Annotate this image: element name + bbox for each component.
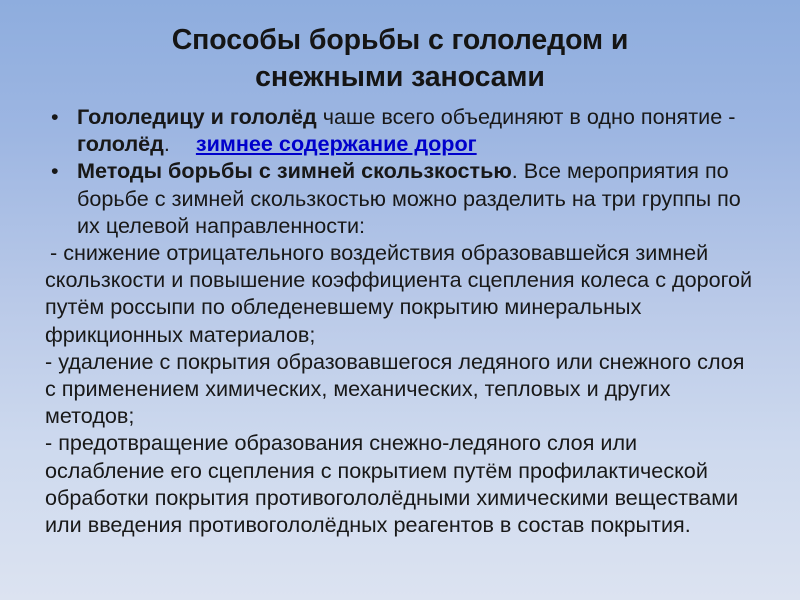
bullet-point-icon: • [51,103,69,130]
presentation-slide: Способы борьбы с гололедом и снежными за… [0,0,800,600]
page-title: Способы борьбы с гололедом и снежными за… [54,22,746,96]
bullet-point-icon: • [51,157,69,184]
dash-paragraph-2: - удаление с покрытия образовавшегося ле… [40,348,756,430]
list-item-label: Гололедицу и гололёд чаше всего объединя… [77,103,756,157]
hyperlink-winter-road-maintenance[interactable]: зимнее содержание дорог [196,131,477,156]
dash-paragraph-3: - предотвращение образования снежно-ледя… [40,429,756,538]
bullet-1-lead-bold: Гололедицу и гололёд [77,104,317,129]
title-block: Способы борьбы с гололедом и снежными за… [54,22,746,96]
bullet-1-middle-text: чаше всего объединяют в одно понятие - [317,104,736,129]
list-item: • Гололедицу и гололёд чаше всего объеди… [40,103,756,157]
dash-paragraph-1: - снижение отрицательного воздействия об… [40,239,756,348]
bullet-2-lead-bold: Методы борьбы с зимней скользкостью [77,158,512,183]
slide-body: • Гололедицу и гололёд чаше всего объеди… [40,103,756,538]
bullet-1-trailing-bold: гололёд [77,131,164,156]
bullet-list: • Гололедицу и гололёд чаше всего объеди… [40,103,756,239]
list-item: • Методы борьбы с зимней скользкостью. В… [40,157,756,239]
list-item-label: Методы борьбы с зимней скользкостью. Все… [77,157,756,239]
bullet-1-after-bold: . [164,131,170,156]
